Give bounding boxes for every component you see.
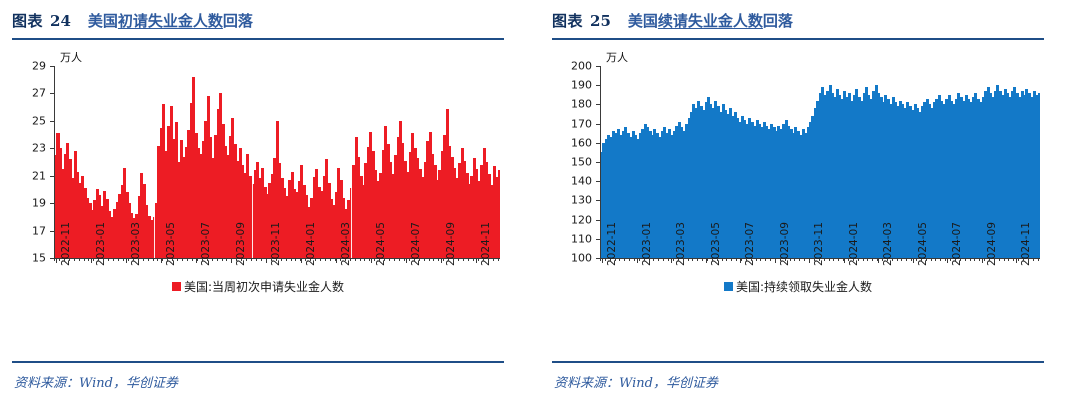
x-axis-minor-tick <box>712 259 713 261</box>
x-axis-tick <box>56 259 57 263</box>
y-axis-tick <box>50 231 54 232</box>
x-axis-tick <box>602 259 603 263</box>
x-axis-minor-tick <box>300 259 301 261</box>
x-axis-minor-tick <box>867 259 868 261</box>
x-axis-minor-tick <box>84 259 85 261</box>
x-axis-minor-tick <box>717 259 718 261</box>
x-axis-minor-tick <box>148 259 149 261</box>
chart-initial-claims: 万人15171921232527292022-112023-012023-032… <box>12 46 504 356</box>
figure-panel-24: 图表24美国初请失业金人数回落 万人15171921232527292022-1… <box>12 0 504 401</box>
x-axis-minor-tick <box>819 259 820 261</box>
x-axis-minor-tick <box>246 259 247 261</box>
x-axis-minor-tick <box>291 259 292 261</box>
chart-legend-24: 美国:当周初次申请失业金人数 <box>12 277 504 295</box>
title-suffix: 回落 <box>223 12 253 30</box>
y-axis-tick-label: 120 <box>552 213 592 226</box>
title-divider <box>552 38 1044 40</box>
x-axis-tick-label: 2023-01 <box>641 222 653 266</box>
y-axis-tick <box>596 239 600 240</box>
figure-sheet: 图表24美国初请失业金人数回落 万人15171921232527292022-1… <box>0 0 1080 401</box>
x-axis-minor-tick <box>751 259 752 261</box>
x-axis-minor-tick <box>212 259 213 261</box>
y-axis-tick <box>596 220 600 221</box>
y-axis-tick-label: 23 <box>12 142 46 155</box>
y-axis-line <box>600 66 601 258</box>
x-axis-minor-tick <box>364 259 365 261</box>
x-axis-minor-tick <box>824 259 825 261</box>
x-axis-minor-tick <box>271 259 272 261</box>
x-axis-minor-tick <box>984 259 985 261</box>
figure-panel-25: 图表25美国续请失业金人数回落 万人1001101201301401501601… <box>552 0 1044 401</box>
x-axis-minor-tick <box>960 259 961 261</box>
x-axis-minor-tick <box>379 259 380 261</box>
source-note: 资料来源：Wind，华创证券 <box>14 372 178 391</box>
x-axis-minor-tick <box>658 259 659 261</box>
x-axis-minor-tick <box>673 259 674 261</box>
y-axis-tick <box>596 143 600 144</box>
x-axis-minor-tick <box>965 259 966 261</box>
y-axis-tick <box>596 85 600 86</box>
x-axis-minor-tick <box>935 259 936 261</box>
chart-legend-25: 美国:持续领取失业金人数 <box>552 277 1044 295</box>
title-suffix: 回落 <box>763 12 793 30</box>
x-axis-minor-tick <box>610 259 611 261</box>
x-axis-minor-tick <box>780 259 781 261</box>
x-axis-minor-tick <box>192 259 193 261</box>
y-axis-tick-label: 19 <box>12 197 46 210</box>
bar-gap <box>252 66 253 258</box>
legend-swatch <box>724 282 733 291</box>
x-axis-minor-tick <box>167 259 168 261</box>
x-axis-minor-tick <box>315 259 316 261</box>
x-axis-minor-tick <box>692 259 693 261</box>
source-divider <box>12 361 504 363</box>
x-axis-minor-tick <box>138 259 139 261</box>
x-axis-minor-tick <box>286 259 287 261</box>
x-axis-minor-tick <box>624 259 625 261</box>
x-axis-minor-tick <box>493 259 494 261</box>
x-axis-minor-tick <box>424 259 425 261</box>
x-axis-tick <box>947 259 948 263</box>
x-axis-tick <box>476 259 477 263</box>
x-axis-tick <box>126 259 127 263</box>
x-axis-minor-tick <box>266 259 267 261</box>
y-axis-tick-label: 25 <box>12 114 46 127</box>
x-axis-minor-tick <box>128 259 129 261</box>
x-axis-minor-tick <box>955 259 956 261</box>
x-axis-tick-label: 2023-03 <box>675 222 687 266</box>
y-axis-tick-label: 190 <box>552 79 592 92</box>
y-axis-tick-label: 130 <box>552 194 592 207</box>
x-axis-minor-tick <box>473 259 474 261</box>
x-axis-minor-tick <box>649 259 650 261</box>
y-axis-tick <box>50 93 54 94</box>
x-axis-minor-tick <box>241 259 242 261</box>
x-axis-minor-tick <box>945 259 946 261</box>
x-axis-minor-tick <box>887 259 888 261</box>
x-axis-minor-tick <box>619 259 620 261</box>
x-axis-minor-tick <box>1013 259 1014 261</box>
x-axis-minor-tick <box>901 259 902 261</box>
x-axis-minor-tick <box>653 259 654 261</box>
legend-swatch <box>172 282 181 291</box>
y-axis-tick <box>50 66 54 67</box>
x-axis-tick <box>844 259 845 263</box>
x-axis-minor-tick <box>162 259 163 261</box>
x-axis-minor-tick <box>829 259 830 261</box>
legend-label: 美国:当周初次申请失业金人数 <box>184 278 344 295</box>
x-axis-minor-tick <box>483 259 484 261</box>
title-underlined: 初请失业金人数 <box>118 12 223 30</box>
x-axis-minor-tick <box>320 259 321 261</box>
x-axis-minor-tick <box>231 259 232 261</box>
x-axis-minor-tick <box>1004 259 1005 261</box>
y-axis-tick-label: 100 <box>552 252 592 265</box>
x-axis-minor-tick <box>59 259 60 261</box>
x-axis-minor-tick <box>463 259 464 261</box>
x-axis-minor-tick <box>369 259 370 261</box>
x-axis-tick <box>441 259 442 263</box>
x-axis-minor-tick <box>350 259 351 261</box>
x-axis-minor-tick <box>970 259 971 261</box>
y-axis-unit: 万人 <box>606 49 628 65</box>
bar-gap <box>154 66 155 258</box>
x-axis-minor-tick <box>678 259 679 261</box>
x-axis-minor-tick <box>663 259 664 261</box>
x-axis-minor-tick <box>853 259 854 261</box>
x-axis-minor-tick <box>325 259 326 261</box>
bar <box>1038 93 1040 258</box>
x-axis-minor-tick <box>468 259 469 261</box>
x-axis-minor-tick <box>707 259 708 261</box>
x-axis-minor-tick <box>765 259 766 261</box>
x-axis-minor-tick <box>799 259 800 261</box>
bar <box>498 170 500 258</box>
x-axis-minor-tick <box>848 259 849 261</box>
x-axis-minor-tick <box>360 259 361 261</box>
x-axis-minor-tick <box>182 259 183 261</box>
title-underlined: 续请失业金人数 <box>658 12 763 30</box>
x-axis-tick <box>336 259 337 263</box>
y-axis-tick-label: 200 <box>552 60 592 73</box>
x-axis-minor-tick <box>858 259 859 261</box>
y-axis-tick-label: 150 <box>552 156 592 169</box>
title-prefix: 美国 <box>88 12 118 30</box>
x-axis-tick <box>637 259 638 263</box>
panel-title-25: 图表25美国续请失业金人数回落 <box>552 10 793 34</box>
x-axis-minor-tick <box>940 259 941 261</box>
y-axis-tick-label: 140 <box>552 175 592 188</box>
x-axis-minor-tick <box>722 259 723 261</box>
x-axis-minor-tick <box>226 259 227 261</box>
x-axis-minor-tick <box>994 259 995 261</box>
x-axis-minor-tick <box>143 259 144 261</box>
x-axis-minor-tick <box>989 259 990 261</box>
x-axis-minor-tick <box>833 259 834 261</box>
y-axis-tick <box>50 148 54 149</box>
x-axis-minor-tick <box>443 259 444 261</box>
x-axis-tick-label: 2024-07 <box>951 222 963 266</box>
x-axis-minor-tick <box>688 259 689 261</box>
x-axis-minor-tick <box>974 259 975 261</box>
x-axis-minor-tick <box>399 259 400 261</box>
figure-number: 25 <box>590 12 611 30</box>
title-divider <box>12 38 504 40</box>
y-axis-tick-label: 110 <box>552 232 592 245</box>
x-axis-minor-tick <box>697 259 698 261</box>
x-axis-minor-tick <box>911 259 912 261</box>
x-axis-minor-tick <box>1023 259 1024 261</box>
x-axis-minor-tick <box>1008 259 1009 261</box>
y-axis-unit: 万人 <box>60 49 82 65</box>
x-axis-minor-tick <box>103 259 104 261</box>
x-axis-tick-label: 2023-03 <box>130 222 142 266</box>
x-axis-minor-tick <box>498 259 499 261</box>
x-axis-tick-label: 2022-11 <box>606 222 618 266</box>
x-axis-minor-tick <box>236 259 237 261</box>
x-axis-minor-tick <box>478 259 479 261</box>
x-axis-minor-tick <box>404 259 405 261</box>
x-axis-minor-tick <box>414 259 415 261</box>
x-axis-minor-tick <box>69 259 70 261</box>
x-axis-minor-tick <box>453 259 454 261</box>
x-axis-minor-tick <box>629 259 630 261</box>
x-axis-minor-tick <box>882 259 883 261</box>
x-axis-tick <box>878 259 879 263</box>
x-axis-minor-tick <box>600 259 601 261</box>
x-axis-minor-tick <box>843 259 844 261</box>
figure-label: 图表 <box>12 12 43 30</box>
x-axis-minor-tick <box>746 259 747 261</box>
x-axis-minor-tick <box>979 259 980 261</box>
x-axis-minor-tick <box>863 259 864 261</box>
x-axis-minor-tick <box>741 259 742 261</box>
x-axis-minor-tick <box>770 259 771 261</box>
x-axis-minor-tick <box>157 259 158 261</box>
x-axis-tick-label: 2022-11 <box>60 222 72 266</box>
y-axis-tick-label: 29 <box>12 60 46 73</box>
x-axis-minor-tick <box>950 259 951 261</box>
y-axis-tick <box>596 162 600 163</box>
x-axis-minor-tick <box>838 259 839 261</box>
x-axis-minor-tick <box>926 259 927 261</box>
x-axis-minor-tick <box>702 259 703 261</box>
x-axis-minor-tick <box>202 259 203 261</box>
x-axis-minor-tick <box>123 259 124 261</box>
x-axis-minor-tick <box>207 259 208 261</box>
y-axis-tick-label: 21 <box>12 169 46 182</box>
x-axis-minor-tick <box>98 259 99 261</box>
x-axis-minor-tick <box>921 259 922 261</box>
x-axis-minor-tick <box>785 259 786 261</box>
x-axis-tick <box>371 259 372 263</box>
figure-title: 美国续请失业金人数回落 <box>628 12 793 30</box>
x-axis-minor-tick <box>389 259 390 261</box>
x-axis-minor-tick <box>804 259 805 261</box>
x-axis-tick-label: 2024-05 <box>375 222 387 266</box>
y-axis-line <box>54 66 55 258</box>
x-axis-minor-tick <box>999 259 1000 261</box>
x-axis-minor-tick <box>615 259 616 261</box>
x-axis-minor-tick <box>775 259 776 261</box>
x-axis-minor-tick <box>429 259 430 261</box>
x-axis-minor-tick <box>197 259 198 261</box>
x-axis-minor-tick <box>683 259 684 261</box>
x-axis-minor-tick <box>1033 259 1034 261</box>
y-axis-tick-label: 170 <box>552 117 592 130</box>
panel-title-24: 图表24美国初请失业金人数回落 <box>12 10 253 34</box>
x-axis-minor-tick <box>345 259 346 261</box>
y-axis-tick-label: 180 <box>552 98 592 111</box>
source-divider <box>552 361 1044 363</box>
x-axis-minor-tick <box>809 259 810 261</box>
figure-number: 24 <box>50 12 71 30</box>
x-axis-minor-tick <box>644 259 645 261</box>
x-axis-minor-tick <box>187 259 188 261</box>
x-axis-minor-tick <box>88 259 89 261</box>
x-axis-minor-tick <box>605 259 606 261</box>
x-axis-minor-tick <box>79 259 80 261</box>
x-axis-minor-tick <box>177 259 178 261</box>
x-axis-minor-tick <box>756 259 757 261</box>
y-axis-tick <box>50 176 54 177</box>
title-prefix: 美国 <box>628 12 658 30</box>
x-axis-minor-tick <box>93 259 94 261</box>
x-axis-minor-tick <box>54 259 55 261</box>
x-axis-minor-tick <box>1018 259 1019 261</box>
y-axis-tick <box>50 203 54 204</box>
x-axis-minor-tick <box>118 259 119 261</box>
x-axis-minor-tick <box>916 259 917 261</box>
x-axis-minor-tick <box>1038 259 1039 261</box>
x-axis-minor-tick <box>108 259 109 261</box>
x-axis-minor-tick <box>438 259 439 261</box>
x-axis-tick <box>913 259 914 263</box>
x-axis-minor-tick <box>305 259 306 261</box>
x-axis-minor-tick <box>153 259 154 261</box>
y-axis-tick <box>596 181 600 182</box>
x-axis-minor-tick <box>251 259 252 261</box>
x-axis-minor-tick <box>276 259 277 261</box>
x-axis-minor-tick <box>794 259 795 261</box>
x-axis-minor-tick <box>133 259 134 261</box>
x-axis-tick <box>91 259 92 263</box>
x-axis-minor-tick <box>172 259 173 261</box>
x-axis-minor-tick <box>374 259 375 261</box>
x-axis-minor-tick <box>113 259 114 261</box>
y-axis-tick <box>596 124 600 125</box>
x-axis-tick <box>671 259 672 263</box>
x-axis-minor-tick <box>1028 259 1029 261</box>
y-axis-tick <box>596 200 600 201</box>
x-axis-minor-tick <box>281 259 282 261</box>
x-axis-tick-label: 2024-11 <box>480 222 492 266</box>
x-axis-tick-label: 2024-09 <box>986 222 998 266</box>
chart-continuing-claims: 万人1001101201301401501601701801902002022-… <box>552 46 1044 356</box>
x-axis-minor-tick <box>639 259 640 261</box>
x-axis-minor-tick <box>760 259 761 261</box>
x-axis-minor-tick <box>897 259 898 261</box>
y-axis-tick <box>50 121 54 122</box>
x-axis-minor-tick <box>409 259 410 261</box>
x-axis-minor-tick <box>668 259 669 261</box>
x-axis-minor-tick <box>790 259 791 261</box>
x-axis-tick <box>406 259 407 263</box>
x-axis-minor-tick <box>340 259 341 261</box>
x-axis-minor-tick <box>458 259 459 261</box>
x-axis-minor-tick <box>906 259 907 261</box>
x-axis-minor-tick <box>310 259 311 261</box>
x-axis-minor-tick <box>64 259 65 261</box>
y-axis-tick-label: 27 <box>12 87 46 100</box>
x-axis-minor-tick <box>394 259 395 261</box>
x-axis-minor-tick <box>295 259 296 261</box>
y-axis-tick <box>596 104 600 105</box>
y-axis-tick-label: 17 <box>12 224 46 237</box>
x-axis-minor-tick <box>726 259 727 261</box>
figure-label: 图表 <box>552 12 583 30</box>
x-axis-minor-tick <box>872 259 873 261</box>
y-axis-tick-label: 15 <box>12 252 46 265</box>
x-axis-minor-tick <box>222 259 223 261</box>
x-axis-minor-tick <box>330 259 331 261</box>
source-note: 资料来源：Wind，华创证券 <box>554 372 718 391</box>
x-axis-tick <box>1016 259 1017 263</box>
x-axis-minor-tick <box>433 259 434 261</box>
x-axis-minor-tick <box>892 259 893 261</box>
x-axis-minor-tick <box>488 259 489 261</box>
x-axis-tick-label: 2023-01 <box>95 222 107 266</box>
x-axis-tick-label: 2024-11 <box>1020 222 1032 266</box>
x-axis-minor-tick <box>419 259 420 261</box>
x-axis-minor-tick <box>634 259 635 261</box>
x-axis-minor-tick <box>335 259 336 261</box>
x-axis-minor-tick <box>217 259 218 261</box>
x-axis-minor-tick <box>256 259 257 261</box>
x-axis-minor-tick <box>731 259 732 261</box>
x-axis-tick <box>301 259 302 263</box>
x-axis-minor-tick <box>261 259 262 261</box>
y-axis-tick <box>596 66 600 67</box>
x-axis-minor-tick <box>384 259 385 261</box>
x-axis-minor-tick <box>931 259 932 261</box>
x-axis-minor-tick <box>448 259 449 261</box>
x-axis-tick <box>982 259 983 263</box>
y-axis-tick-label: 160 <box>552 136 592 149</box>
x-axis-minor-tick <box>74 259 75 261</box>
figure-title: 美国初请失业金人数回落 <box>88 12 253 30</box>
x-axis-tick-label: 2024-09 <box>445 222 457 266</box>
x-axis-minor-tick <box>355 259 356 261</box>
x-axis-minor-tick <box>877 259 878 261</box>
x-axis-minor-tick <box>736 259 737 261</box>
legend-label: 美国:持续领取失业金人数 <box>736 278 872 295</box>
x-axis-minor-tick <box>814 259 815 261</box>
